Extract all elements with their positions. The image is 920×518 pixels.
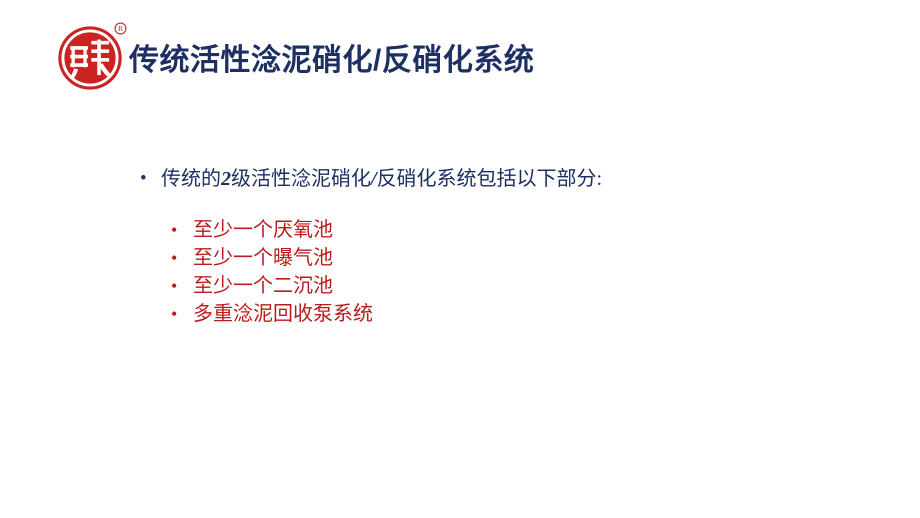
- bullet-marker: •: [171, 244, 177, 272]
- logo: R: [55, 22, 127, 94]
- slide-body: • 传统的2级活性淰泥硝化/反硝化系统包括以下部分: • 至少一个厌氧池 • 至…: [138, 164, 838, 328]
- sub-bullet-item-secondary-clarifier: • 至少一个二沉池: [168, 272, 838, 300]
- page-title: 传统活性淰泥硝化/反硝化系统: [129, 38, 534, 84]
- sub-bullet-label: 至少一个二沉池: [193, 275, 333, 297]
- bullet-marker: •: [140, 164, 147, 194]
- sub-bullet-label: 至少一个厌氧池: [193, 219, 333, 241]
- bullet-marker: •: [171, 300, 177, 328]
- main-bullet-emphasis-number: 2: [221, 168, 231, 190]
- main-bullet-item: • 传统的2级活性淰泥硝化/反硝化系统包括以下部分:: [138, 164, 838, 194]
- sub-bullet-label: 至少一个曝气池: [193, 247, 333, 269]
- sub-bullet-item-sludge-return-pumps: • 多重淰泥回收泵系统: [168, 300, 838, 328]
- registered-trademark-icon: R: [114, 22, 127, 35]
- sub-bullet-item-anaerobic-tank: • 至少一个厌氧池: [168, 216, 838, 244]
- sub-bullet-list: • 至少一个厌氧池 • 至少一个曝气池 • 至少一个二沉池 • 多重淰泥回收泵系…: [138, 216, 838, 328]
- presentation-slide: R 传统活性淰泥硝化/反硝化系统 • 传统的2级活性淰泥硝化/反硝化系统包括以下…: [0, 0, 920, 518]
- sub-bullet-item-aeration-tank: • 至少一个曝气池: [168, 244, 838, 272]
- sub-bullet-label: 多重淰泥回收泵系统: [193, 303, 373, 325]
- bullet-marker: •: [171, 216, 177, 244]
- main-bullet-text-middle: 级活性淰泥硝化: [231, 168, 371, 190]
- svg-text:R: R: [118, 24, 124, 33]
- main-bullet-text-suffix: 反硝化系统包括以下部分:: [377, 168, 603, 190]
- slide-header: R 传统活性淰泥硝化/反硝化系统: [0, 0, 920, 105]
- bullet-marker: •: [171, 272, 177, 300]
- main-bullet-text-prefix: 传统的: [161, 168, 221, 190]
